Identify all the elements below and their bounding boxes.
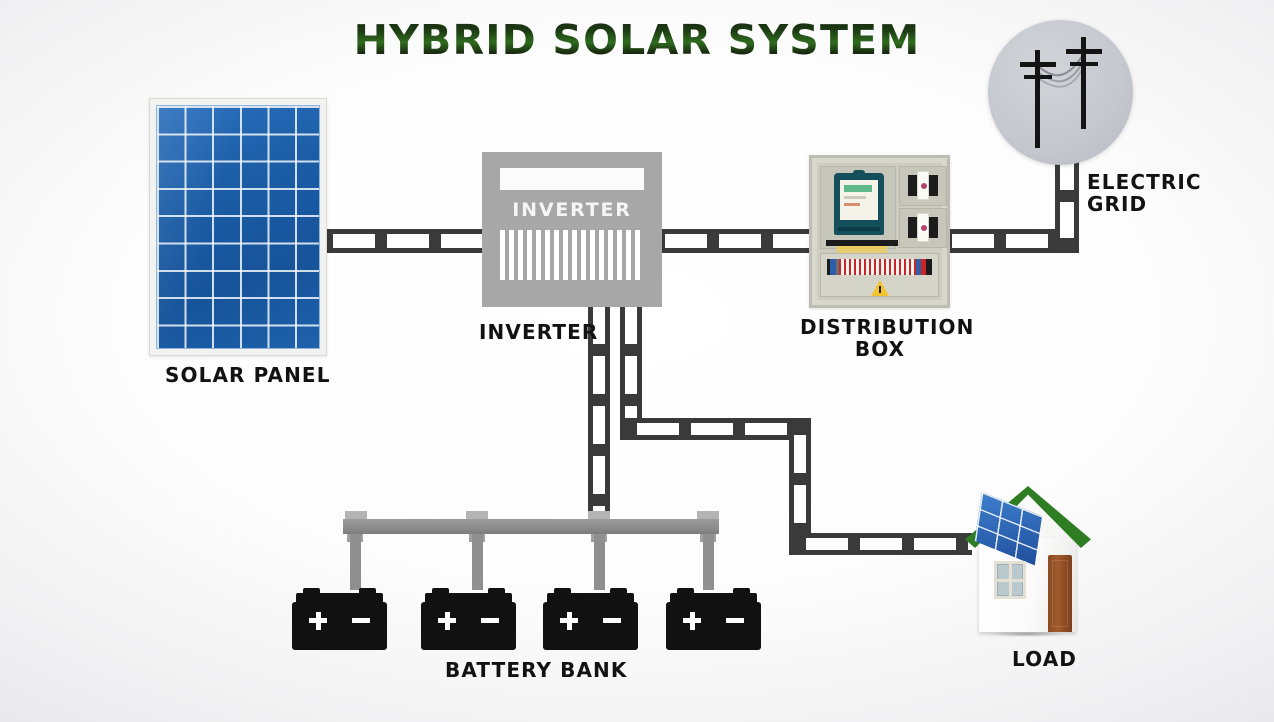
breaker-indicator-2 [921,225,927,231]
energy-meter-compartment [820,166,896,249]
busbar-tab [588,511,610,519]
load-label: LOAD [1012,648,1077,670]
meter-line-3 [844,203,860,206]
inverter-face-text: INVERTER [482,199,662,221]
solar-panel-icon[interactable] [149,98,327,356]
breaker-indicator-1 [921,183,927,189]
inverter-icon[interactable]: INVERTER [482,152,662,307]
battery-busbar [343,519,719,534]
breaker-compartment-2 [899,208,947,248]
battery-icon[interactable] [543,588,638,650]
battery-plus-symbol [683,618,701,623]
cable-inverter-to-load-horizontal-upper [631,418,801,440]
window-mullion-horizontal [997,579,1023,582]
breaker-switch-1[interactable] [908,175,938,196]
terminal-strip-compartment [820,253,939,297]
cable-inverter-to-load-vertical-lower [789,429,811,544]
house-window [994,561,1026,599]
breaker-toggle-2[interactable] [917,213,929,242]
battery-icon[interactable] [666,588,761,650]
battery-body [292,602,387,650]
battery-plus-symbol [560,618,578,623]
busbar-tab [697,511,719,519]
cable-panel-to-inverter [327,229,485,253]
battery-plus-symbol [438,618,456,623]
utility-pole-2-crossarm-top [1066,49,1102,54]
battery-drop-cable [703,534,714,590]
solar-panel-cells [156,105,320,349]
battery-icon[interactable] [421,588,516,650]
inverter-vent-louvers [500,230,644,280]
terminal-strip-right-block [916,259,932,275]
distribution-box-label: DISTRIBUTION BOX [800,316,960,361]
battery-bank-label: BATTERY BANK [445,659,628,681]
utility-pole-2-crossarm-bottom [1070,62,1098,66]
distribution-box-inner [817,163,942,300]
power-lines [988,20,1133,165]
battery-body [666,602,761,650]
electric-grid-icon[interactable] [988,20,1133,165]
battery-drop-cable [350,534,361,590]
meter-line-2 [844,196,866,199]
utility-pole-1-crossarm-bottom [1024,75,1052,79]
door-panel [1052,560,1068,627]
cable-inverter-to-load-vertical-upper [620,300,642,428]
breaker-compartment-1 [899,166,947,206]
cable-inverter-to-distribution [659,229,812,253]
battery-body [543,602,638,650]
diagram-canvas: HYBRID SOLAR SYSTEM SOLAR PANEL INVERTER… [0,0,1274,722]
battery-icon[interactable] [292,588,387,650]
utility-pole-1-crossarm-top [1020,62,1056,67]
inverter-display-slot [500,168,644,190]
cable-to-load-horizontal [800,533,972,555]
house-icon[interactable] [955,462,1100,642]
house-door [1048,555,1072,632]
terminal-strip [827,259,932,275]
distribution-box-icon[interactable] [809,155,950,308]
battery-drop-cable [472,534,483,590]
energy-meter-icon[interactable] [834,173,884,235]
battery-minus-symbol [726,618,744,623]
busbar-tab [345,511,367,519]
inverter-label: INVERTER [479,321,598,343]
battery-minus-symbol [481,618,499,623]
meter-nub [853,170,865,175]
busbar-tab [466,511,488,519]
warning-triangle-icon [871,280,889,296]
meter-display [840,180,878,220]
battery-minus-symbol [352,618,370,623]
battery-minus-symbol [603,618,621,623]
battery-drop-cable [594,534,605,590]
battery-body [421,602,516,650]
breaker-switch-2[interactable] [908,217,938,238]
meter-foot [838,227,880,231]
battery-plus-symbol [309,618,327,623]
breaker-toggle-1[interactable] [917,171,929,200]
meter-lcd [844,185,872,192]
electric-grid-label: ELECTRIC GRID [1087,171,1202,216]
solar-panel-label: SOLAR PANEL [165,364,331,386]
